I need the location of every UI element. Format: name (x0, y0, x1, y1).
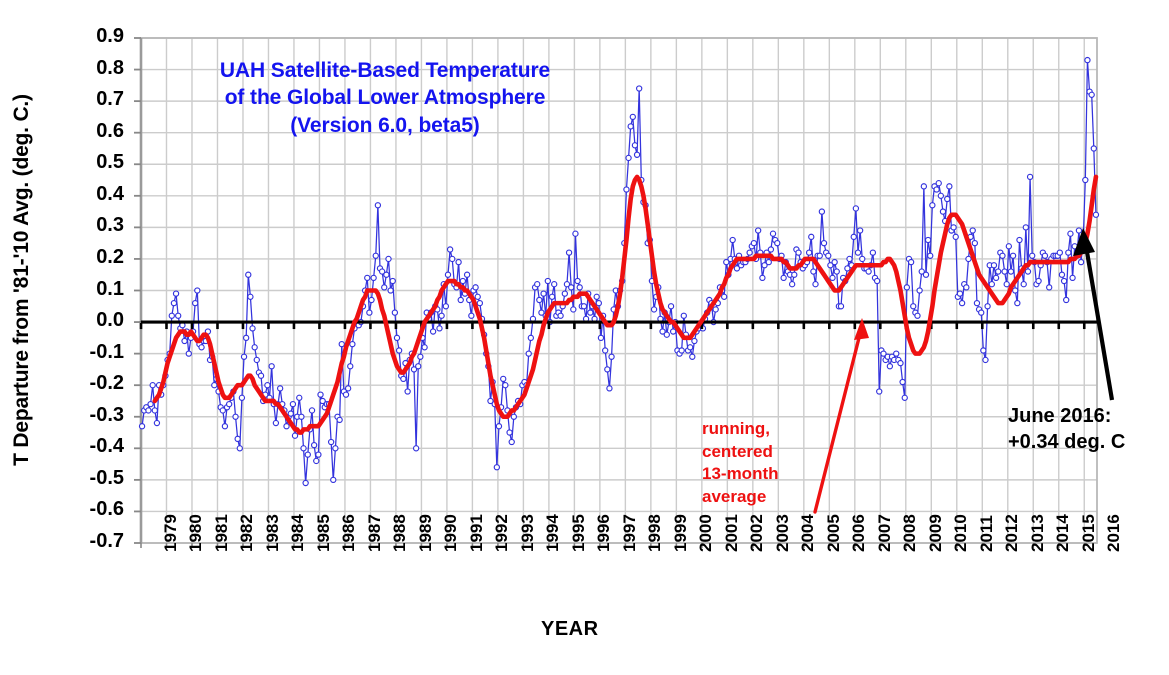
monthly-data-point (278, 386, 283, 391)
monthly-data-point (1085, 57, 1090, 62)
x-axis-tick-label: 2007 (875, 514, 895, 552)
x-axis-tick-label: 1982 (237, 514, 257, 552)
monthly-data-point (993, 275, 998, 280)
monthly-data-point (1093, 212, 1098, 217)
monthly-data-point (148, 402, 153, 407)
x-axis-tick-label: 1987 (365, 514, 385, 552)
y-axis-tick-label: 0.2 (62, 246, 124, 269)
x-axis-tick-label: 1993 (518, 514, 538, 552)
monthly-data-point (367, 310, 372, 315)
monthly-data-point (851, 234, 856, 239)
y-axis-tick-label: 0.0 (62, 309, 124, 332)
y-axis-tick-label: 0.5 (62, 151, 124, 174)
monthly-data-point (1047, 285, 1052, 290)
monthly-data-point (503, 383, 508, 388)
x-axis-tick-label: 2014 (1053, 514, 1073, 552)
monthly-data-point (775, 241, 780, 246)
monthly-data-point (607, 386, 612, 391)
monthly-data-point (227, 402, 232, 407)
monthly-data-point (605, 367, 610, 372)
x-axis-tick-label: 1983 (263, 514, 283, 552)
y-axis-tick-label: -0.7 (62, 530, 124, 553)
monthly-data-point (371, 275, 376, 280)
monthly-data-point (902, 395, 907, 400)
monthly-data-point (855, 250, 860, 255)
y-axis-tick-label: -0.1 (62, 341, 124, 364)
monthly-data-point (747, 250, 752, 255)
monthly-data-point (713, 307, 718, 312)
monthly-data-point (756, 228, 761, 233)
monthly-data-point (375, 203, 380, 208)
monthly-data-point (679, 348, 684, 353)
june-2016-line-1: June 2016: (1008, 403, 1125, 429)
x-axis-tick-label: 1985 (314, 514, 334, 552)
monthly-data-point (549, 294, 554, 299)
monthly-data-point (813, 282, 818, 287)
monthly-data-point (966, 256, 971, 261)
monthly-data-point (690, 354, 695, 359)
monthly-data-point (146, 408, 151, 413)
monthly-data-point (1004, 282, 1009, 287)
x-axis-tick-label: 1996 (594, 514, 614, 552)
x-axis-tick-label: 1997 (620, 514, 640, 552)
monthly-data-point (1089, 92, 1094, 97)
monthly-data-point (169, 313, 174, 318)
monthly-data-point (974, 301, 979, 306)
monthly-data-point (830, 275, 835, 280)
monthly-data-point (1057, 250, 1062, 255)
monthly-data-point (668, 304, 673, 309)
monthly-data-point (834, 269, 839, 274)
monthly-data-point (348, 364, 353, 369)
monthly-data-point (577, 285, 582, 290)
monthly-data-point (150, 383, 155, 388)
y-axis-tick-label: 0.1 (62, 278, 124, 301)
monthly-data-point (465, 272, 470, 277)
monthly-data-point (1091, 146, 1096, 151)
monthly-data-point (545, 278, 550, 283)
monthly-data-point (507, 430, 512, 435)
x-axis-tick-label: 2011 (977, 515, 997, 552)
monthly-data-point (239, 395, 244, 400)
monthly-data-point (258, 373, 263, 378)
monthly-data-point (781, 275, 786, 280)
monthly-data-point (248, 294, 253, 299)
monthly-data-point (235, 436, 240, 441)
monthly-data-point (853, 206, 858, 211)
monthly-data-point (373, 253, 378, 258)
monthly-data-point (329, 439, 334, 444)
monthly-data-point (445, 272, 450, 277)
monthly-data-point (1070, 275, 1075, 280)
monthly-data-point (443, 304, 448, 309)
monthly-data-point (418, 354, 423, 359)
monthly-data-point (182, 338, 187, 343)
monthly-data-point (246, 272, 251, 277)
monthly-data-point (996, 269, 1001, 274)
june-2016-line-2: +0.34 deg. C (1008, 429, 1125, 455)
monthly-data-point (222, 424, 227, 429)
chart-title-line-3: (Version 6.0, beta5) (150, 112, 620, 139)
monthly-data-point (1061, 278, 1066, 283)
x-axis-tick-label: 2006 (849, 514, 869, 552)
running-average-line-4: average (702, 486, 779, 509)
monthly-data-point (915, 313, 920, 318)
y-axis-tick-label: -0.6 (62, 498, 124, 521)
monthly-data-point (875, 278, 880, 283)
monthly-data-point (233, 414, 238, 419)
chart-root: T Departure from '81-'10 Avg. (deg. C.) … (0, 0, 1169, 675)
x-axis-tick-label: 2009 (926, 514, 946, 552)
running-average-line-1: running, (702, 418, 779, 441)
monthly-data-point (1064, 297, 1069, 302)
x-axis-tick-label: 1995 (569, 514, 589, 552)
monthly-data-point (930, 203, 935, 208)
x-axis-title: YEAR (541, 618, 599, 641)
monthly-data-point (1006, 244, 1011, 249)
monthly-data-point (1030, 253, 1035, 258)
monthly-data-point (594, 294, 599, 299)
monthly-data-point (139, 424, 144, 429)
x-axis-tick-label: 1980 (186, 514, 206, 552)
chart-title-line-1: UAH Satellite-Based Temperature (150, 57, 620, 84)
monthly-data-point (416, 364, 421, 369)
monthly-data-point (173, 291, 178, 296)
monthly-data-point (847, 256, 852, 261)
monthly-data-point (537, 297, 542, 302)
monthly-data-point (632, 143, 637, 148)
monthly-data-point (439, 313, 444, 318)
monthly-data-point (989, 282, 994, 287)
monthly-data-point (766, 259, 771, 264)
monthly-data-point (405, 389, 410, 394)
x-axis-tick-label: 2013 (1028, 514, 1048, 552)
monthly-data-point (390, 278, 395, 283)
monthly-data-point (318, 392, 323, 397)
monthly-data-point (575, 278, 580, 283)
monthly-data-point (339, 342, 344, 347)
monthly-data-point (900, 379, 905, 384)
monthly-data-point (384, 272, 389, 277)
monthly-data-point (664, 332, 669, 337)
x-axis-tick-label: 2003 (773, 514, 793, 552)
monthly-data-point (176, 313, 181, 318)
monthly-data-point (562, 291, 567, 296)
monthly-data-point (1021, 282, 1026, 287)
monthly-data-point (1017, 237, 1022, 242)
monthly-data-point (637, 86, 642, 91)
x-axis-tick-label: 1990 (441, 514, 461, 552)
chart-title-line-2: of the Global Lower Atmosphere (150, 84, 620, 111)
monthly-data-point (314, 458, 319, 463)
x-axis-tick-label: 2005 (824, 514, 844, 552)
monthly-data-point (898, 360, 903, 365)
running-average-line-3: 13-month (702, 463, 779, 486)
monthly-data-point (369, 297, 374, 302)
monthly-data-point (1066, 250, 1071, 255)
monthly-data-point (671, 329, 676, 334)
y-axis-tick-label: 0.6 (62, 120, 124, 143)
monthly-data-point (821, 241, 826, 246)
monthly-data-point (936, 181, 941, 186)
monthly-data-point (796, 250, 801, 255)
monthly-data-point (928, 253, 933, 258)
x-axis-tick-label: 2000 (696, 514, 716, 552)
monthly-data-point (292, 433, 297, 438)
monthly-data-point (792, 272, 797, 277)
y-axis-tick-label: -0.4 (62, 435, 124, 458)
monthly-data-point (501, 376, 506, 381)
x-axis-tick-label: 1992 (492, 514, 512, 552)
monthly-data-point (819, 209, 824, 214)
monthly-data-point (877, 389, 882, 394)
y-axis-tick-label: 0.9 (62, 25, 124, 48)
monthly-data-point (552, 282, 557, 287)
monthly-data-point (290, 402, 295, 407)
monthly-data-point (152, 408, 157, 413)
monthly-data-point (985, 304, 990, 309)
monthly-data-point (392, 310, 397, 315)
monthly-data-point (250, 326, 255, 331)
monthly-data-point (923, 272, 928, 277)
monthly-data-point (983, 357, 988, 362)
monthly-data-point (252, 345, 257, 350)
monthly-data-point (566, 250, 571, 255)
monthly-data-point (401, 376, 406, 381)
monthly-data-point (541, 291, 546, 296)
monthly-data-point (947, 184, 952, 189)
monthly-data-point (1078, 259, 1083, 264)
monthly-data-point (588, 310, 593, 315)
x-axis-tick-label: 1981 (212, 514, 232, 552)
monthly-data-point (768, 247, 773, 252)
monthly-data-point (1025, 269, 1030, 274)
monthly-data-point (301, 446, 306, 451)
monthly-data-point (1027, 174, 1032, 179)
monthly-data-point (858, 228, 863, 233)
monthly-data-point (981, 348, 986, 353)
x-axis-tick-label: 1999 (671, 514, 691, 552)
monthly-data-point (244, 335, 249, 340)
june-2016-annotation: June 2016: +0.34 deg. C (1008, 403, 1125, 455)
x-axis-tick-label: 2004 (798, 514, 818, 552)
monthly-data-point (573, 231, 578, 236)
monthly-data-point (1010, 253, 1015, 258)
monthly-data-point (237, 446, 242, 451)
monthly-data-point (1015, 301, 1020, 306)
monthly-data-point (964, 285, 969, 290)
monthly-data-point (598, 335, 603, 340)
monthly-data-point (688, 345, 693, 350)
x-axis-tick-label: 2002 (747, 514, 767, 552)
monthly-data-point (972, 241, 977, 246)
monthly-data-point (273, 420, 278, 425)
y-axis-tick-label: -0.3 (62, 404, 124, 427)
monthly-data-point (456, 259, 461, 264)
monthly-data-point (951, 225, 956, 230)
monthly-data-point (634, 152, 639, 157)
monthly-data-point (945, 196, 950, 201)
monthly-data-point (494, 465, 499, 470)
x-axis-tick-label: 1984 (288, 514, 308, 552)
x-axis-tick-label: 2010 (951, 514, 971, 552)
monthly-data-point (860, 256, 865, 261)
monthly-data-point (909, 259, 914, 264)
x-axis-tick-label: 2016 (1104, 514, 1124, 552)
monthly-data-point (422, 345, 427, 350)
monthly-data-point (305, 452, 310, 457)
monthly-data-point (199, 345, 204, 350)
monthly-data-point (331, 477, 336, 482)
y-axis-tick-label: -0.5 (62, 467, 124, 490)
monthly-data-point (624, 187, 629, 192)
monthly-data-point (269, 364, 274, 369)
monthly-data-point (1002, 269, 1007, 274)
x-axis-tick-label: 2012 (1002, 514, 1022, 552)
monthly-data-point (1036, 278, 1041, 283)
monthly-data-point (811, 269, 816, 274)
monthly-data-point (477, 301, 482, 306)
monthly-data-point (569, 285, 574, 290)
monthly-data-point (386, 256, 391, 261)
monthly-data-point (917, 288, 922, 293)
monthly-data-point (957, 291, 962, 296)
monthly-data-point (365, 275, 370, 280)
running-average-line-2: centered (702, 441, 779, 464)
monthly-data-point (1059, 272, 1064, 277)
y-axis-tick-label: 0.8 (62, 57, 124, 80)
monthly-data-point (350, 342, 355, 347)
monthly-data-point (312, 443, 317, 448)
monthly-data-point (186, 351, 191, 356)
monthly-data-point (1000, 253, 1005, 258)
monthly-data-point (722, 294, 727, 299)
monthly-data-point (437, 326, 442, 331)
x-axis-tick-label: 2008 (900, 514, 920, 552)
monthly-data-point (309, 408, 314, 413)
monthly-data-point (596, 301, 601, 306)
chart-title: UAH Satellite-Based Temperature of the G… (150, 57, 620, 139)
monthly-data-point (1023, 225, 1028, 230)
monthly-data-point (528, 335, 533, 340)
monthly-data-point (254, 357, 259, 362)
y-axis-title: T Departure from '81-'10 Avg. (deg. C.) (10, 0, 34, 560)
monthly-data-point (838, 304, 843, 309)
monthly-data-point (526, 351, 531, 356)
monthly-data-point (535, 282, 540, 287)
monthly-data-point (904, 285, 909, 290)
monthly-data-point (760, 275, 765, 280)
monthly-data-point (894, 351, 899, 356)
monthly-data-point (866, 269, 871, 274)
y-axis-tick-label: 0.3 (62, 214, 124, 237)
monthly-data-point (241, 354, 246, 359)
monthly-data-point (473, 285, 478, 290)
monthly-data-point (630, 114, 635, 119)
monthly-data-point (934, 187, 939, 192)
monthly-data-point (558, 313, 563, 318)
monthly-data-point (681, 313, 686, 318)
monthly-data-point (337, 417, 342, 422)
x-axis-tick-label: 1998 (645, 514, 665, 552)
y-axis-tick-label: 0.4 (62, 183, 124, 206)
monthly-data-point (171, 301, 176, 306)
x-axis-tick-label: 2015 (1079, 514, 1099, 552)
monthly-data-point (926, 237, 931, 242)
monthly-data-point (1068, 231, 1073, 236)
monthly-data-point (195, 288, 200, 293)
monthly-data-point (953, 234, 958, 239)
monthly-data-point (809, 234, 814, 239)
monthly-data-point (571, 307, 576, 312)
monthly-data-point (450, 256, 455, 261)
monthly-data-point (730, 237, 735, 242)
monthly-data-point (870, 250, 875, 255)
monthly-data-point (316, 452, 321, 457)
monthly-data-point (832, 259, 837, 264)
monthly-data-point (626, 155, 631, 160)
monthly-data-point (303, 480, 308, 485)
monthly-data-point (960, 301, 965, 306)
monthly-data-point (388, 288, 393, 293)
monthly-data-point (154, 420, 159, 425)
x-axis-tick-label: 1986 (339, 514, 359, 552)
monthly-data-point (299, 414, 304, 419)
monthly-data-point (394, 335, 399, 340)
monthly-data-point (265, 383, 270, 388)
monthly-data-point (692, 338, 697, 343)
monthly-data-point (770, 231, 775, 236)
monthly-data-point (297, 395, 302, 400)
monthly-data-point (807, 250, 812, 255)
monthly-data-point (448, 247, 453, 252)
monthly-data-point (651, 307, 656, 312)
monthly-data-point (1083, 177, 1088, 182)
x-axis-tick-label: 1989 (416, 514, 436, 552)
monthly-data-point (509, 439, 514, 444)
monthly-data-point (940, 209, 945, 214)
monthly-data-point (817, 253, 822, 258)
monthly-data-point (397, 348, 402, 353)
monthly-data-point (288, 411, 293, 416)
monthly-data-point (938, 193, 943, 198)
monthly-data-point (1042, 253, 1047, 258)
monthly-data-point (343, 392, 348, 397)
monthly-data-point (609, 354, 614, 359)
monthly-data-point (887, 364, 892, 369)
monthly-data-point (458, 297, 463, 302)
monthly-data-point (346, 386, 351, 391)
x-axis-tick-label: 1994 (543, 514, 563, 552)
monthly-data-point (382, 285, 387, 290)
monthly-data-point (790, 282, 795, 287)
monthly-data-point (496, 424, 501, 429)
monthly-data-point (991, 263, 996, 268)
monthly-data-point (826, 253, 831, 258)
monthly-data-point (511, 414, 516, 419)
monthly-data-point (475, 294, 480, 299)
monthly-data-point (603, 348, 608, 353)
monthly-data-point (193, 301, 198, 306)
monthly-data-point (414, 446, 419, 451)
monthly-data-point (970, 228, 975, 233)
monthly-data-point (460, 278, 465, 283)
monthly-data-point (751, 241, 756, 246)
monthly-data-point (979, 310, 984, 315)
monthly-data-point (469, 313, 474, 318)
monthly-data-point (1013, 288, 1018, 293)
monthly-data-point (284, 424, 289, 429)
